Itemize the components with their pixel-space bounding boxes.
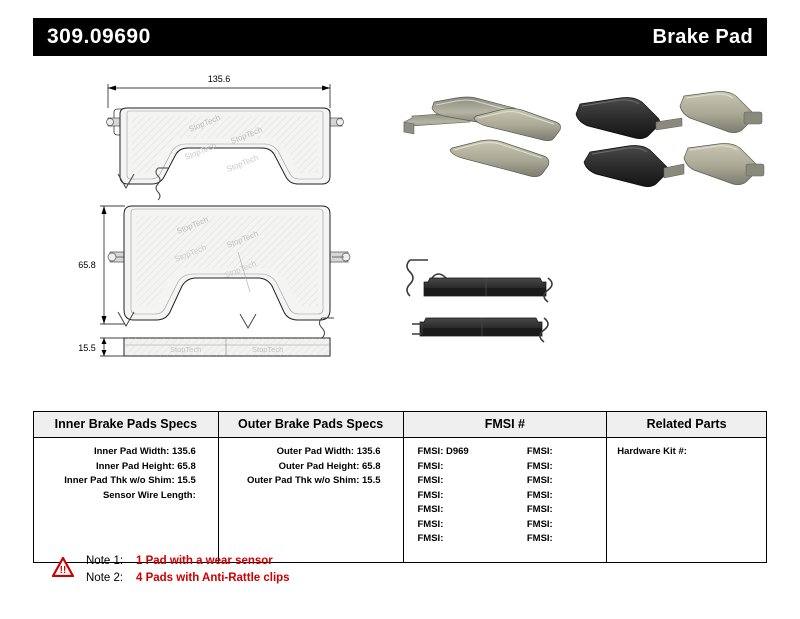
note-text: 1 Pad with a wear sensor	[136, 553, 273, 570]
svg-text:15.5: 15.5	[78, 343, 96, 353]
pad-front-view-upper: StopTech StopTech StopTech StopTech	[107, 108, 344, 184]
spec-row: Sensor Wire Length:	[34, 489, 218, 504]
spec-column-outer: Outer Brake Pads Specs Outer Pad Width: …	[219, 412, 404, 562]
svg-text:!!: !!	[60, 565, 67, 576]
svg-text:StopTech: StopTech	[225, 153, 259, 174]
fmsi-row: FMSI:	[527, 518, 606, 533]
fmsi-row: FMSI:	[527, 445, 606, 460]
fmsi-row: FMSI:	[527, 460, 606, 475]
spec-row: Outer Pad Width: 135.6	[219, 445, 403, 460]
specs-table: Inner Brake Pads Specs Inner Pad Width: …	[33, 411, 767, 563]
fmsi-row: FMSI:	[527, 532, 606, 547]
pad-front-view-lower: StopTech StopTech StopTech StopTech	[108, 206, 350, 320]
warning-icon: !!	[52, 557, 74, 577]
fmsi-row: FMSI:	[527, 489, 606, 504]
svg-text:65.8: 65.8	[78, 260, 96, 270]
drawing-svg: 135.6 StopTech StopTech StopTech StopTec…	[0, 56, 800, 401]
note-label: Note 2:	[86, 570, 136, 587]
svg-text:StopTech: StopTech	[252, 345, 283, 354]
spec-body-fmsi: FMSI: D969 FMSI: FMSI: FMSI: FMSI: FMSI:…	[404, 438, 607, 562]
fmsi-row: FMSI:	[527, 474, 606, 489]
fmsi-row: FMSI:	[418, 460, 505, 475]
spec-body-inner: Inner Pad Width: 135.6 Inner Pad Height:…	[34, 438, 218, 562]
fmsi-column-right: FMSI: FMSI: FMSI: FMSI: FMSI: FMSI: FMSI…	[505, 445, 606, 552]
dimension-width: 135.6	[108, 74, 330, 108]
spec-column-fmsi: FMSI # FMSI: D969 FMSI: FMSI: FMSI: FMSI…	[404, 412, 608, 562]
spec-row: Hardware Kit #:	[607, 445, 766, 460]
technical-drawing: 135.6 StopTech StopTech StopTech StopTec…	[0, 56, 800, 401]
notes-lines: Note 1: 1 Pad with a wear sensor Note 2:…	[86, 553, 290, 587]
note-text: 4 Pads with Anti-Rattle clips	[136, 570, 290, 587]
spec-column-inner: Inner Brake Pads Specs Inner Pad Width: …	[34, 412, 219, 562]
spec-row: Inner Pad Width: 135.6	[34, 445, 218, 460]
spec-body-related: Hardware Kit #:	[607, 438, 766, 562]
fmsi-row: FMSI:	[418, 474, 505, 489]
fmsi-row: FMSI:	[418, 532, 505, 547]
fmsi-row: FMSI:	[418, 503, 505, 518]
title-bar: 309.09690 Brake Pad	[33, 18, 767, 56]
fmsi-row: FMSI:	[418, 518, 505, 533]
fmsi-row: FMSI:	[418, 489, 505, 504]
svg-text:135.6: 135.6	[208, 74, 231, 84]
note-line: Note 1: 1 Pad with a wear sensor	[86, 553, 290, 570]
fmsi-column-left: FMSI: D969 FMSI: FMSI: FMSI: FMSI: FMSI:…	[404, 445, 505, 552]
spec-body-outer: Outer Pad Width: 135.6 Outer Pad Height:…	[219, 438, 403, 562]
spec-header-related: Related Parts	[607, 412, 766, 438]
fmsi-row: FMSI: D969	[418, 445, 505, 460]
part-number: 309.09690	[47, 25, 151, 49]
svg-text:StopTech: StopTech	[170, 345, 201, 354]
pad-photo-group-left	[404, 97, 561, 177]
pad-photo-side-views	[407, 260, 552, 342]
note-label: Note 1:	[86, 553, 136, 570]
note-line: Note 2: 4 Pads with Anti-Rattle clips	[86, 570, 290, 587]
spec-row: Inner Pad Thk w/o Shim: 15.5	[34, 474, 218, 489]
dimension-thickness: 15.5	[78, 338, 125, 356]
pad-side-view: StopTech StopTech	[124, 338, 330, 356]
spec-header-outer: Outer Brake Pads Specs	[219, 412, 403, 438]
spec-row: Outer Pad Height: 65.8	[219, 460, 403, 475]
spec-row: Outer Pad Thk w/o Shim: 15.5	[219, 474, 403, 489]
spec-header-inner: Inner Brake Pads Specs	[34, 412, 218, 438]
fmsi-row: FMSI:	[527, 503, 606, 518]
dimension-height: 65.8	[78, 206, 125, 324]
spec-row: Inner Pad Height: 65.8	[34, 460, 218, 475]
pad-photo-group-right	[576, 92, 764, 187]
notes-section: !! Note 1: 1 Pad with a wear sensor Note…	[52, 553, 290, 587]
spec-header-fmsi: FMSI #	[404, 412, 607, 438]
product-type: Brake Pad	[652, 26, 753, 49]
spec-column-related: Related Parts Hardware Kit #:	[607, 412, 766, 562]
